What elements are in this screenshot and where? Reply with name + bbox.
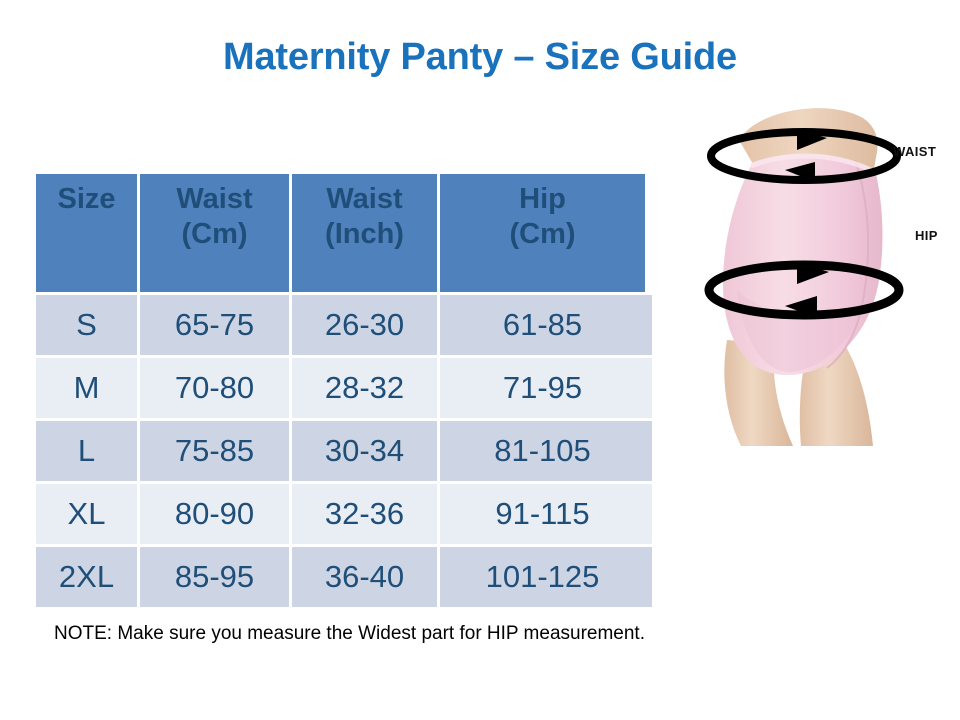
table-header-row: Size Waist (Cm) Waist (Inch) Hip (Cm) xyxy=(36,174,645,292)
cell-waist-cm: 80-90 xyxy=(140,481,292,544)
hip-label: HIP xyxy=(915,228,938,243)
cell-size: L xyxy=(36,418,140,481)
table-row: 2XL 85-95 36-40 101-125 xyxy=(36,544,645,607)
table-row: L 75-85 30-34 81-105 xyxy=(36,418,645,481)
cell-hip-cm: 101-125 xyxy=(440,544,645,607)
cell-size: S xyxy=(36,292,140,355)
column-header-size-name: Size xyxy=(57,183,115,215)
cell-size: 2XL xyxy=(36,544,140,607)
cell-hip-cm: 61-85 xyxy=(440,292,645,355)
column-header-waist-cm: Waist (Cm) xyxy=(140,174,292,292)
column-header-waist-cm-unit: (Cm) xyxy=(140,217,289,252)
table-row: XL 80-90 32-36 91-115 xyxy=(36,481,645,544)
column-header-hip-cm: Hip (Cm) xyxy=(440,174,645,292)
cell-size: M xyxy=(36,355,140,418)
waist-label: WAIST xyxy=(893,144,936,159)
table-row: M 70-80 28-32 71-95 xyxy=(36,355,645,418)
cell-waist-inch: 28-32 xyxy=(292,355,440,418)
size-chart-table: Size Waist (Cm) Waist (Inch) Hip (Cm) S … xyxy=(36,174,645,607)
column-header-hip-cm-unit: (Cm) xyxy=(440,217,645,252)
column-header-hip-cm-name: Hip xyxy=(519,183,566,215)
maternity-panty-illustration xyxy=(697,104,915,446)
column-header-waist-inch-unit: (Inch) xyxy=(292,217,437,252)
measurement-note: NOTE: Make sure you measure the Widest p… xyxy=(54,623,645,645)
cell-waist-cm: 70-80 xyxy=(140,355,292,418)
cell-size: XL xyxy=(36,481,140,544)
column-header-size: Size xyxy=(36,174,140,292)
cell-waist-cm: 75-85 xyxy=(140,418,292,481)
cell-waist-inch: 32-36 xyxy=(292,481,440,544)
cell-waist-inch: 26-30 xyxy=(292,292,440,355)
cell-waist-cm: 85-95 xyxy=(140,544,292,607)
column-header-waist-inch: Waist (Inch) xyxy=(292,174,440,292)
column-header-waist-inch-name: Waist xyxy=(326,183,402,215)
product-photo xyxy=(697,104,915,446)
cell-waist-inch: 30-34 xyxy=(292,418,440,481)
cell-hip-cm: 71-95 xyxy=(440,355,645,418)
page-title: Maternity Panty – Size Guide xyxy=(0,36,960,79)
table-row: S 65-75 26-30 61-85 xyxy=(36,292,645,355)
column-header-waist-cm-name: Waist xyxy=(176,183,252,215)
cell-hip-cm: 91-115 xyxy=(440,481,645,544)
cell-waist-cm: 65-75 xyxy=(140,292,292,355)
cell-hip-cm: 81-105 xyxy=(440,418,645,481)
cell-waist-inch: 36-40 xyxy=(292,544,440,607)
